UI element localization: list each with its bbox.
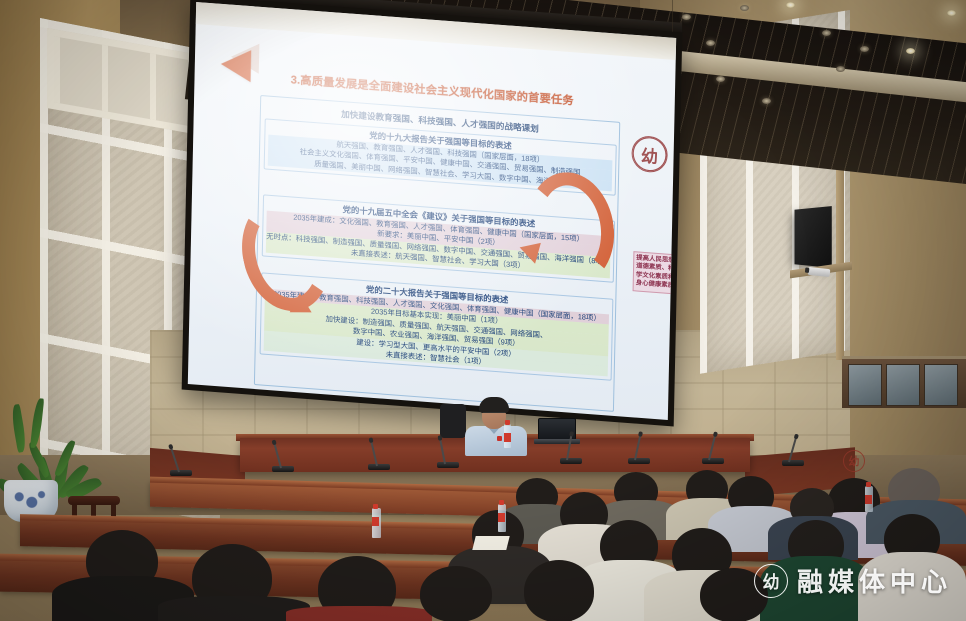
ceiling-downlight bbox=[762, 98, 771, 104]
microphone-base bbox=[170, 470, 192, 476]
plant-leaf bbox=[10, 404, 28, 453]
bottle-label bbox=[504, 433, 511, 442]
ceiling-downlight bbox=[740, 5, 749, 11]
university-seal-icon: 幼 bbox=[631, 135, 668, 174]
cabinet-pane bbox=[886, 364, 920, 406]
hall-wall-emblem-icon: 幼 bbox=[843, 450, 865, 472]
cabinet-pane bbox=[848, 364, 882, 406]
triangle-outline-decoration bbox=[231, 45, 283, 49]
presenter-glasses-icon bbox=[483, 412, 505, 417]
ceiling-downlight-lit bbox=[786, 2, 795, 8]
ceiling-downlight bbox=[706, 40, 715, 46]
microphone-base bbox=[437, 462, 459, 468]
bottle-label bbox=[498, 513, 505, 522]
projection-screen-surface: 3.高质量发展是全面建设社会主义现代化国家的首要任务 幼 加快建设教育强国、科技… bbox=[188, 2, 676, 420]
cabinet-pane bbox=[924, 364, 958, 406]
audience-water-bottle bbox=[498, 504, 506, 532]
ceiling-downlight bbox=[822, 30, 831, 36]
lecture-hall-scene: 3.高质量发展是全面建设社会主义现代化国家的首要任务 幼 加快建设教育强国、科技… bbox=[0, 0, 966, 621]
ceiling-downlight bbox=[716, 76, 725, 82]
microphone-base bbox=[560, 458, 582, 464]
side-cabinet bbox=[842, 356, 966, 408]
window-mullions bbox=[54, 36, 188, 126]
audience-head-foreground bbox=[524, 560, 594, 621]
presenter-lapel-badge bbox=[497, 436, 502, 441]
ceiling-downlight-lit bbox=[947, 10, 956, 16]
microphone-base bbox=[628, 458, 650, 464]
microphone-base bbox=[368, 464, 390, 470]
microphone-base bbox=[272, 466, 294, 472]
laptop-keyboard bbox=[534, 439, 580, 444]
wall-speaker bbox=[795, 206, 832, 268]
plant-leaf bbox=[30, 398, 44, 449]
water-bottle bbox=[504, 424, 511, 448]
slide-callout-box: 提高人民思想道德素质、科学文化素质和身心健康素质 bbox=[633, 251, 677, 294]
ceiling-downlight-lit bbox=[906, 48, 915, 54]
audience-notebook bbox=[472, 536, 509, 550]
ceiling-downlight bbox=[836, 66, 845, 72]
projection-screen: 3.高质量发展是全面建设社会主义现代化国家的首要任务 幼 加快建设教育强国、科技… bbox=[182, 0, 683, 426]
bottle-label bbox=[372, 517, 379, 526]
microphone-base bbox=[702, 458, 724, 464]
audience-shoulders bbox=[760, 556, 872, 621]
audience-water-bottle bbox=[372, 508, 381, 538]
bottle-label bbox=[865, 495, 872, 504]
ceiling-downlight bbox=[860, 46, 869, 52]
ceiling-downlight bbox=[682, 14, 691, 20]
audience-water-bottle bbox=[865, 486, 873, 512]
microphone-base bbox=[782, 460, 804, 466]
audience-shoulders bbox=[858, 552, 966, 621]
audience-head-foreground bbox=[700, 568, 768, 621]
potted-plant bbox=[8, 398, 98, 488]
planter-blue-motif bbox=[12, 488, 48, 510]
audience-head-foreground bbox=[420, 566, 492, 621]
presenter-speaker bbox=[462, 396, 532, 454]
presentation-slide: 3.高质量发展是全面建设社会主义现代化国家的首要任务 幼 加快建设教育强国、科技… bbox=[188, 2, 676, 420]
audience-shoulders-foreground bbox=[286, 606, 432, 621]
triangle-marker-icon bbox=[221, 48, 252, 82]
presenter-hair bbox=[479, 397, 509, 413]
stool-top bbox=[68, 496, 120, 505]
